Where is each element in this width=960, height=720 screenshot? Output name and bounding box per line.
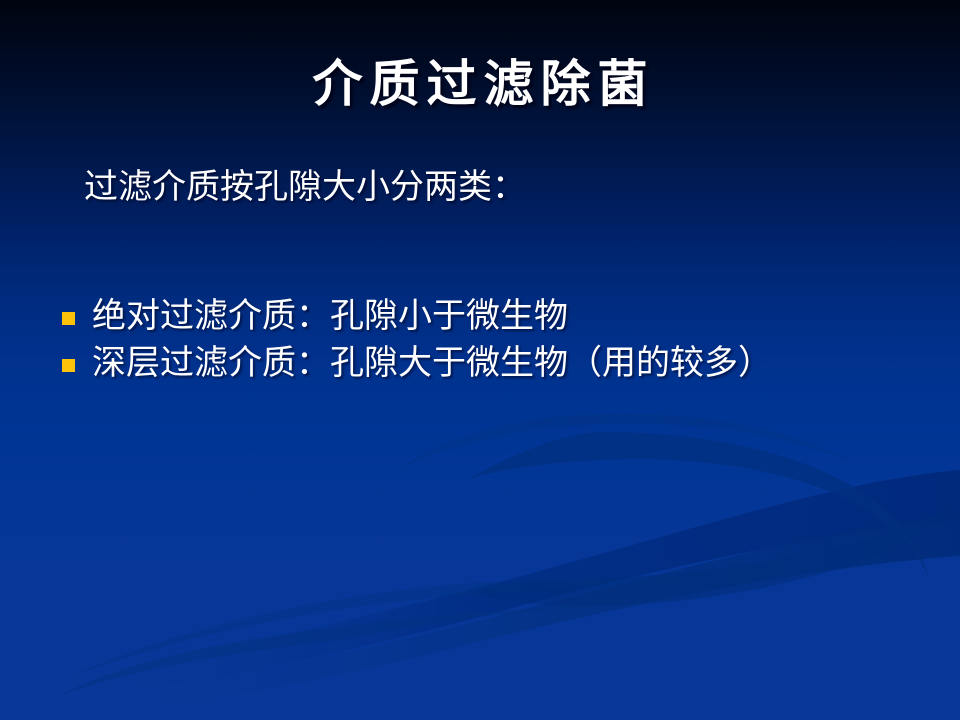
presentation-slide: 介质过滤除菌 过滤介质按孔隙大小分两类： 绝对过滤介质：孔隙小于微生物 深层过滤… [0, 0, 960, 720]
slide-body: 过滤介质按孔隙大小分两类： 绝对过滤介质：孔隙小于微生物 深层过滤介质：孔隙大于… [62, 166, 912, 210]
list-item-label: 绝对过滤介质：孔隙小于微生物 [92, 294, 910, 339]
square-bullet-icon [62, 312, 75, 325]
square-bullet-icon [62, 359, 75, 372]
list-item: 深层过滤介质：孔隙大于微生物（用的较多） [62, 341, 910, 386]
list-item: 绝对过滤介质：孔隙小于微生物 [62, 294, 910, 339]
bullet-list: 绝对过滤介质：孔隙小于微生物 深层过滤介质：孔隙大于微生物（用的较多） [62, 294, 910, 388]
page-title: 介质过滤除菌 [0, 52, 960, 116]
intro-text: 过滤介质按孔隙大小分两类： [62, 166, 912, 210]
list-item-label: 深层过滤介质：孔隙大于微生物（用的较多） [92, 341, 910, 386]
